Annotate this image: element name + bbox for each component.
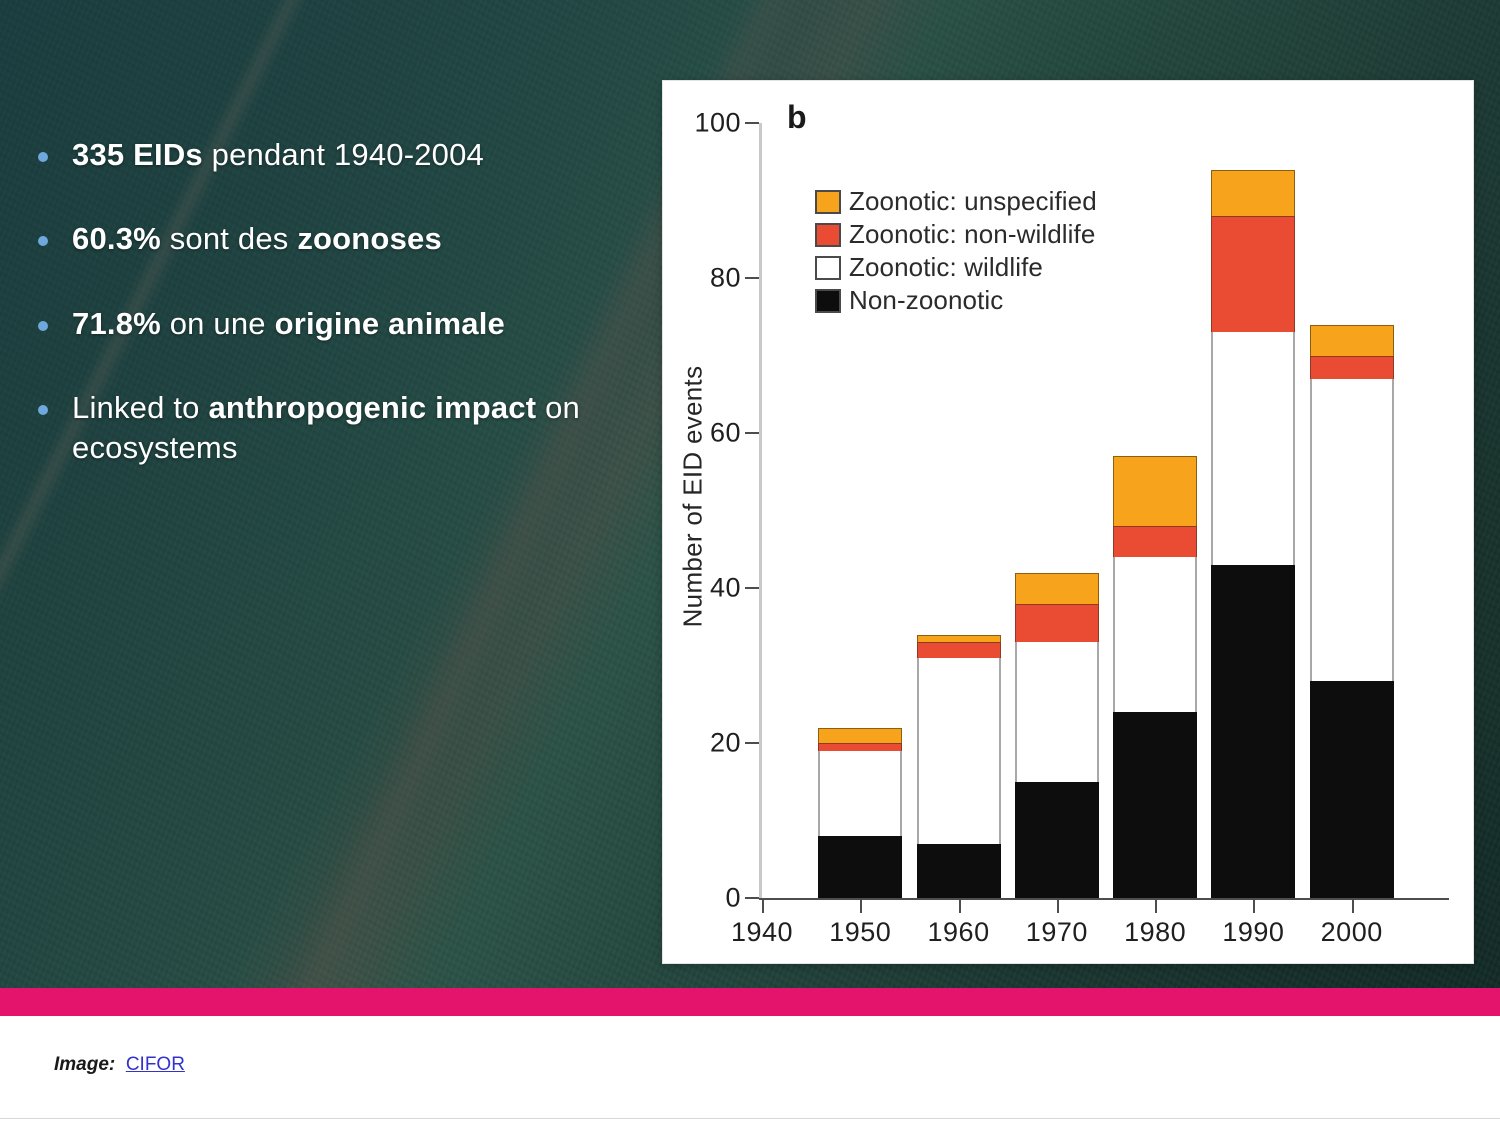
bullet-text: Linked to anthropogenic impact on ecosys… [72, 388, 630, 469]
bar-segment [1310, 325, 1394, 356]
image-credit: Image: CIFOR [54, 1054, 185, 1076]
slide-canvas: 335 EIDs pendant 1940-200460.3% sont des… [0, 0, 1500, 988]
slide-footer: Image: CIFOR [0, 1016, 1500, 1125]
x-axis-tick-label: 1980 [1124, 917, 1186, 948]
legend-label: Zoonotic: wildlife [849, 252, 1043, 283]
bullet-dot-icon [38, 405, 48, 415]
y-axis-tick-mark [745, 742, 759, 744]
x-axis-tick-mark [1352, 900, 1354, 913]
bar-segment [818, 836, 902, 898]
bar-stack[interactable] [818, 728, 902, 899]
bullet-item: 335 EIDs pendant 1940-2004 [30, 135, 630, 175]
x-axis-tick-label: 1960 [928, 917, 990, 948]
legend-swatch [815, 289, 841, 313]
bar-segment [1211, 332, 1295, 565]
bullet-list: 335 EIDs pendant 1940-200460.3% sont des… [30, 135, 630, 512]
bullet-item: 60.3% sont des zoonoses [30, 219, 630, 259]
legend-item: Zoonotic: unspecified [815, 186, 1097, 217]
x-axis-tick-mark [1155, 900, 1157, 913]
chart-legend: Zoonotic: unspecifiedZoonotic: non-wildl… [815, 186, 1097, 318]
x-axis-tick-label: 1990 [1222, 917, 1284, 948]
y-axis-tick-label: 100 [663, 108, 741, 139]
bar-segment [1211, 170, 1295, 217]
image-credit-label: Image: [54, 1054, 115, 1075]
y-axis-tick-mark [745, 277, 759, 279]
y-axis-tick-label: 20 [663, 728, 741, 759]
y-axis-tick-mark [745, 432, 759, 434]
bar-stack[interactable] [1113, 456, 1197, 898]
bullet-dot-icon [38, 236, 48, 246]
bullet-item: Linked to anthropogenic impact on ecosys… [30, 388, 630, 469]
y-axis-tick-label: 40 [663, 573, 741, 604]
bar-segment [1015, 782, 1099, 898]
bar-segment [1113, 557, 1197, 712]
x-axis-tick-label: 2000 [1321, 917, 1383, 948]
bar-segment [1113, 712, 1197, 898]
image-credit-link[interactable]: CIFOR [126, 1054, 185, 1075]
bar-segment [917, 658, 1001, 844]
y-axis-tick-label: 0 [663, 883, 741, 914]
bar-segment [1015, 573, 1099, 604]
bar-segment [917, 642, 1001, 658]
legend-swatch [815, 190, 841, 214]
y-axis-tick-mark [745, 587, 759, 589]
bar-segment [1211, 565, 1295, 898]
bar-segment [818, 743, 902, 751]
bar-segment [818, 728, 902, 744]
footer-divider [0, 1118, 1500, 1119]
x-axis-tick-label: 1950 [829, 917, 891, 948]
bar-stack[interactable] [1211, 170, 1295, 899]
legend-label: Zoonotic: non-wildlife [849, 219, 1095, 250]
x-axis-ticklabels: 1940195019601970198019902000 [663, 917, 1475, 959]
chart-figure-card: b Number of EID events 020406080100 1940… [662, 80, 1474, 964]
legend-label: Zoonotic: unspecified [849, 186, 1097, 217]
bar-segment [1310, 356, 1394, 379]
bar-segment [1211, 216, 1295, 332]
bullet-dot-icon [38, 152, 48, 162]
y-axis-tick-label: 60 [663, 418, 741, 449]
x-axis-tickmarks [762, 900, 1450, 916]
y-axis-tick-mark [745, 122, 759, 124]
legend-swatch [815, 223, 841, 247]
y-axis-tick-label: 80 [663, 263, 741, 294]
bar-stack[interactable] [1015, 573, 1099, 899]
x-axis-tick-mark [1057, 900, 1059, 913]
bar-segment [1310, 379, 1394, 681]
x-axis-tick-mark [1253, 900, 1255, 913]
y-axis-tick-mark [745, 897, 759, 899]
bar-segment [917, 635, 1001, 643]
x-axis-tick-mark [959, 900, 961, 913]
chart-plot-area: b Number of EID events 020406080100 1940… [663, 81, 1473, 963]
y-axis-ticks: 020406080100 [663, 81, 741, 965]
x-axis-tick-label: 1940 [731, 917, 793, 948]
x-axis-tick-mark [762, 900, 764, 913]
bullet-text: 71.8% on une origine animale [72, 304, 505, 344]
bar-segment [1310, 681, 1394, 898]
bar-segment [818, 751, 902, 836]
legend-item: Zoonotic: wildlife [815, 252, 1097, 283]
legend-label: Non-zoonotic [849, 285, 1003, 316]
x-axis-tick-label: 1970 [1026, 917, 1088, 948]
slide-page: 335 EIDs pendant 1940-200460.3% sont des… [0, 0, 1500, 1125]
accent-bar [0, 988, 1500, 1016]
bullet-item: 71.8% on une origine animale [30, 304, 630, 344]
bar-stack[interactable] [1310, 325, 1394, 899]
bullet-dot-icon [38, 321, 48, 331]
bar-segment [1015, 642, 1099, 782]
bullet-text: 335 EIDs pendant 1940-2004 [72, 135, 484, 175]
bar-stack[interactable] [917, 635, 1001, 899]
legend-item: Zoonotic: non-wildlife [815, 219, 1097, 250]
bar-segment [917, 844, 1001, 898]
bar-segment [1113, 456, 1197, 526]
legend-swatch [815, 256, 841, 280]
bar-segment [1015, 604, 1099, 643]
x-axis-tick-mark [860, 900, 862, 913]
bar-segment [1113, 526, 1197, 557]
legend-item: Non-zoonotic [815, 285, 1097, 316]
bullet-text: 60.3% sont des zoonoses [72, 219, 442, 259]
